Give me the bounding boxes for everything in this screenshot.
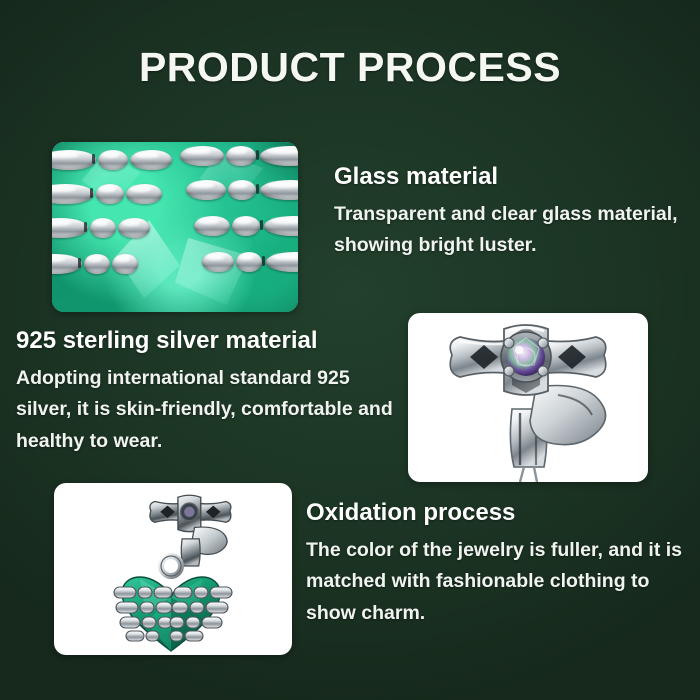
finger-bone <box>154 587 172 598</box>
silver-cross-illustration <box>408 313 648 482</box>
finger-bone <box>202 617 222 628</box>
feature-body-glass: Transparent and clear glass material, sh… <box>334 199 684 262</box>
finger-bone <box>232 216 260 236</box>
skeleton-finger <box>202 252 298 272</box>
finger-bone <box>116 602 138 613</box>
skeleton-finger <box>52 150 172 170</box>
skeleton-finger <box>194 216 298 236</box>
finger-bone <box>266 252 298 272</box>
finger-bone <box>194 587 208 598</box>
finger-bone <box>130 150 172 170</box>
finger-bone <box>52 184 94 204</box>
finger-bone <box>190 602 204 613</box>
finger-joint <box>92 154 95 164</box>
finger-bone <box>236 252 262 272</box>
cross-ribbon <box>530 386 606 445</box>
finger-bone <box>84 254 110 274</box>
finger-bone <box>186 180 226 200</box>
feature-heading-silver: 925 sterling silver material <box>16 328 406 355</box>
feature-body-oxidation: The color of the jewelry is fuller, and … <box>306 535 694 630</box>
feature-block-oxidation: Oxidation process The color of the jewel… <box>306 500 694 630</box>
finger-bone <box>202 252 234 272</box>
skeleton-finger <box>180 146 298 166</box>
skeleton-finger <box>52 218 150 238</box>
product-process-poster: PRODUCT PROCESS <box>0 0 700 700</box>
finger-joint <box>256 150 259 160</box>
finger-joint <box>84 222 87 232</box>
stone-prong <box>504 366 514 376</box>
feature-block-glass: Glass material Transparent and clear gla… <box>334 164 684 262</box>
feature-block-silver: 925 sterling silver material Adopting in… <box>16 328 406 458</box>
finger-bone <box>114 587 136 598</box>
finger-bone <box>126 184 162 204</box>
finger-bone <box>260 180 298 200</box>
finger-bone <box>174 587 192 598</box>
silver-cross-stage <box>408 313 648 482</box>
feature-body-silver: Adopting international standard 925 silv… <box>16 363 406 458</box>
charm-cross <box>150 495 231 566</box>
finger-bone <box>172 602 188 613</box>
finger-bone <box>206 602 228 613</box>
finger-bone <box>140 602 154 613</box>
finger-bone <box>98 150 128 170</box>
finger-bone <box>156 602 172 613</box>
finger-bone <box>52 150 96 170</box>
finger-joint <box>260 220 263 230</box>
finger-joint <box>262 256 265 266</box>
dangle-wire <box>534 467 537 482</box>
finger-bone <box>112 254 138 274</box>
feature-heading-oxidation: Oxidation process <box>306 500 694 527</box>
finger-bone <box>138 587 152 598</box>
page-title: PRODUCT PROCESS <box>0 44 700 91</box>
stone-prong <box>538 338 548 348</box>
finger-bone <box>264 216 298 236</box>
full-charm-stage <box>54 483 292 655</box>
skeleton-finger <box>186 180 298 200</box>
product-photo-glass-macro <box>52 142 298 312</box>
finger-bone <box>185 631 203 641</box>
stone-prong <box>538 366 548 376</box>
finger-joint <box>78 258 81 268</box>
finger-bone <box>194 216 230 236</box>
finger-bone <box>118 218 150 238</box>
skeleton-finger <box>52 184 162 204</box>
finger-joint <box>90 188 93 198</box>
finger-bone <box>96 184 124 204</box>
dangle-wire <box>520 467 524 482</box>
glass-macro-stage <box>52 142 298 312</box>
finger-bone <box>126 631 144 641</box>
finger-bone <box>226 146 256 166</box>
finger-bone <box>210 587 232 598</box>
finger-bone <box>142 617 156 628</box>
finger-bone <box>170 631 183 641</box>
finger-bone <box>260 146 298 166</box>
finger-bone <box>170 617 184 628</box>
finger-joint <box>256 184 259 194</box>
finger-bone <box>180 146 224 166</box>
finger-bone <box>120 617 140 628</box>
skeleton-finger <box>52 254 138 274</box>
finger-bone <box>186 617 200 628</box>
stone-prong <box>504 338 514 348</box>
product-photo-full-charm <box>54 483 292 655</box>
product-photo-silver-cross <box>408 313 648 482</box>
finger-bone <box>228 180 256 200</box>
finger-bone <box>90 218 116 238</box>
finger-bone <box>52 218 88 238</box>
stone-highlight <box>515 346 524 355</box>
feature-heading-glass: Glass material <box>334 164 684 191</box>
full-charm-illustration <box>54 483 292 655</box>
finger-bone <box>146 631 159 641</box>
